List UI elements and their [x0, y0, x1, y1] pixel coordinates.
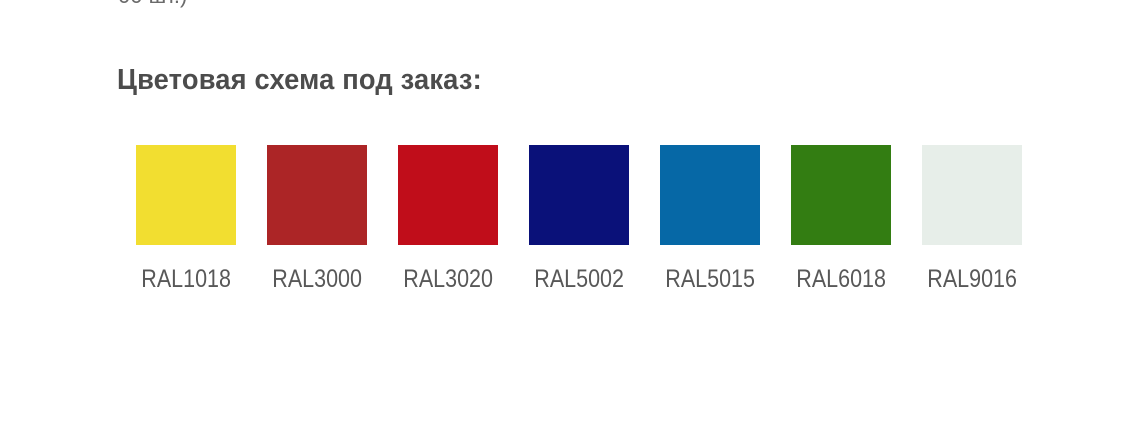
- color-palette: RAL1018RAL3000RAL3020RAL5002RAL5015RAL60…: [136, 145, 1022, 292]
- color-swatch-label: RAL1018: [141, 266, 231, 292]
- color-swatch-label: RAL5002: [534, 266, 624, 292]
- color-swatch-ral5002[interactable]: RAL5002: [529, 145, 629, 292]
- color-swatch-chip[interactable]: [529, 145, 629, 245]
- color-swatch-chip[interactable]: [922, 145, 1022, 245]
- color-swatch-label: RAL3020: [403, 266, 493, 292]
- color-swatch-chip[interactable]: [791, 145, 891, 245]
- color-swatch-ral1018[interactable]: RAL1018: [136, 145, 236, 292]
- color-swatch-chip[interactable]: [136, 145, 236, 245]
- color-swatch-ral5015[interactable]: RAL5015: [660, 145, 760, 292]
- page-title: Цветовая схема под заказ:: [117, 62, 482, 98]
- color-swatch-ral3000[interactable]: RAL3000: [267, 145, 367, 292]
- color-swatch-label: RAL6018: [796, 266, 886, 292]
- clipped-top-text-label: 00 шт.): [118, 0, 187, 9]
- clipped-top-text: 00 шт.): [118, 0, 187, 9]
- color-swatch-label: RAL9016: [927, 266, 1017, 292]
- color-swatch-ral9016[interactable]: RAL9016: [922, 145, 1022, 292]
- color-swatch-ral6018[interactable]: RAL6018: [791, 145, 891, 292]
- color-swatch-chip[interactable]: [660, 145, 760, 245]
- color-swatch-ral3020[interactable]: RAL3020: [398, 145, 498, 292]
- color-swatch-label: RAL3000: [272, 266, 362, 292]
- color-swatch-label: RAL5015: [665, 266, 755, 292]
- color-swatch-chip[interactable]: [267, 145, 367, 245]
- color-swatch-chip[interactable]: [398, 145, 498, 245]
